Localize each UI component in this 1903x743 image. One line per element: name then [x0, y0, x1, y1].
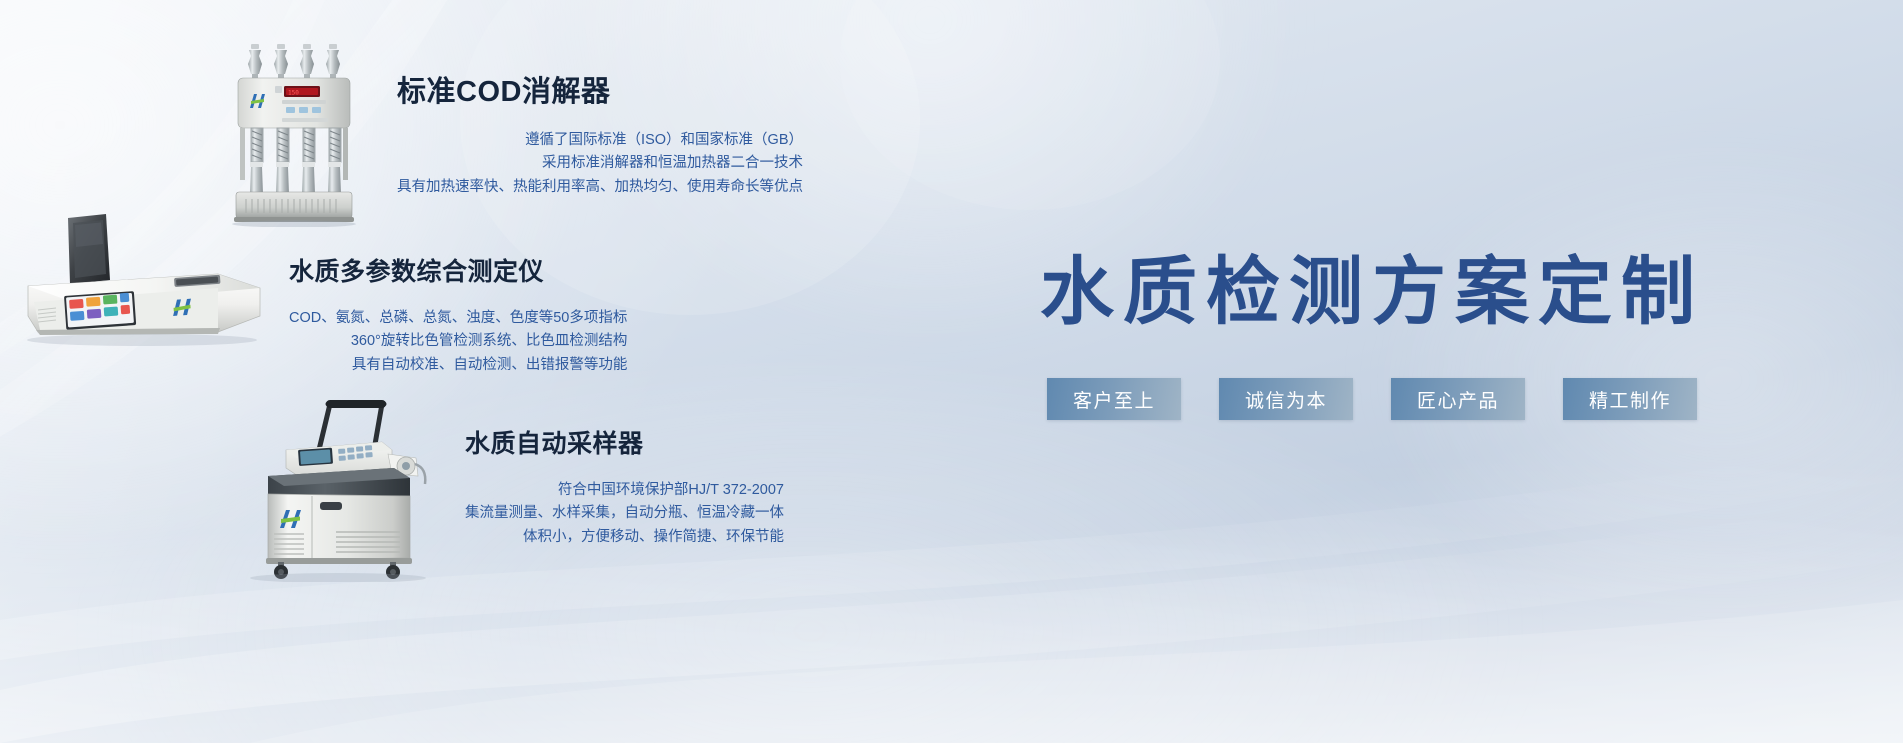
multi-parameter-analyzer-text: 水质多参数综合测定仪 COD、氨氮、总磷、总氮、浊度、色度等50多项指标 360…	[289, 212, 627, 377]
hero-section: 水质检测方案定制 客户至上 诚信为本 匠心产品 精工制作	[845, 0, 1903, 743]
product-item-multi-parameter-analyzer: 水质多参数综合测定仪 COD、氨氮、总磷、总氮、浊度、色度等50多项指标 360…	[22, 212, 627, 377]
cod-digester-text: 标准COD消解器 遵循了国际标准（ISO）和国家标准（GB） 采用标准消解器和恒…	[397, 42, 803, 199]
auto-water-sampler-text: 水质自动采样器 符合中国环境保护部HJ/T 372-2007 集流量测量、水样采…	[465, 392, 784, 549]
desc-line: 集流量测量、水样采集，自动分瓶、恒温冷藏一体	[465, 502, 784, 525]
auto-water-sampler-photo	[242, 392, 427, 577]
product-description: COD、氨氮、总磷、总氮、浊度、色度等50多项指标 360°旋转比色管检测系统、…	[289, 307, 627, 377]
product-item-cod-digester: 150	[232, 42, 803, 217]
desc-line: 具有自动校准、自动检测、出错报警等功能	[289, 354, 627, 377]
multi-parameter-analyzer-photo	[22, 212, 267, 347]
product-description: 遵循了国际标准（ISO）和国家标准（GB） 采用标准消解器和恒温加热器二合一技术…	[397, 129, 803, 199]
badge-fine-manufacturing[interactable]: 精工制作	[1563, 378, 1697, 420]
desc-line: COD、氨氮、总磷、总氮、浊度、色度等50多项指标	[289, 307, 627, 330]
desc-line: 采用标准消解器和恒温加热器二合一技术	[397, 152, 803, 175]
desc-line: 遵循了国际标准（ISO）和国家标准（GB）	[397, 129, 803, 152]
hero-badge-list: 客户至上 诚信为本 匠心产品 精工制作	[867, 378, 1877, 420]
hero-headline: 水质检测方案定制	[867, 232, 1877, 339]
svg-text:150: 150	[288, 90, 299, 97]
product-list: 150	[0, 0, 900, 743]
desc-line: 体积小，方便移动、操作简捷、环保节能	[465, 526, 784, 549]
product-title: 水质多参数综合测定仪	[289, 252, 627, 288]
product-title: 水质自动采样器	[465, 424, 784, 460]
water-quality-banner: 150	[0, 0, 1903, 743]
product-item-auto-water-sampler: 水质自动采样器 符合中国环境保护部HJ/T 372-2007 集流量测量、水样采…	[242, 392, 784, 577]
product-description: 符合中国环境保护部HJ/T 372-2007 集流量测量、水样采集，自动分瓶、恒…	[465, 479, 784, 549]
badge-customer-first[interactable]: 客户至上	[1047, 378, 1181, 420]
cod-digester-photo: 150	[232, 42, 362, 217]
desc-line: 360°旋转比色管检测系统、比色皿检测结构	[289, 330, 627, 353]
desc-line: 具有加热速率快、热能利用率高、加热均匀、使用寿命长等优点	[397, 176, 803, 199]
product-title: 标准COD消解器	[397, 68, 803, 110]
badge-craftsmanship[interactable]: 匠心产品	[1391, 378, 1525, 420]
badge-integrity[interactable]: 诚信为本	[1219, 378, 1353, 420]
desc-line: 符合中国环境保护部HJ/T 372-2007	[465, 479, 784, 502]
